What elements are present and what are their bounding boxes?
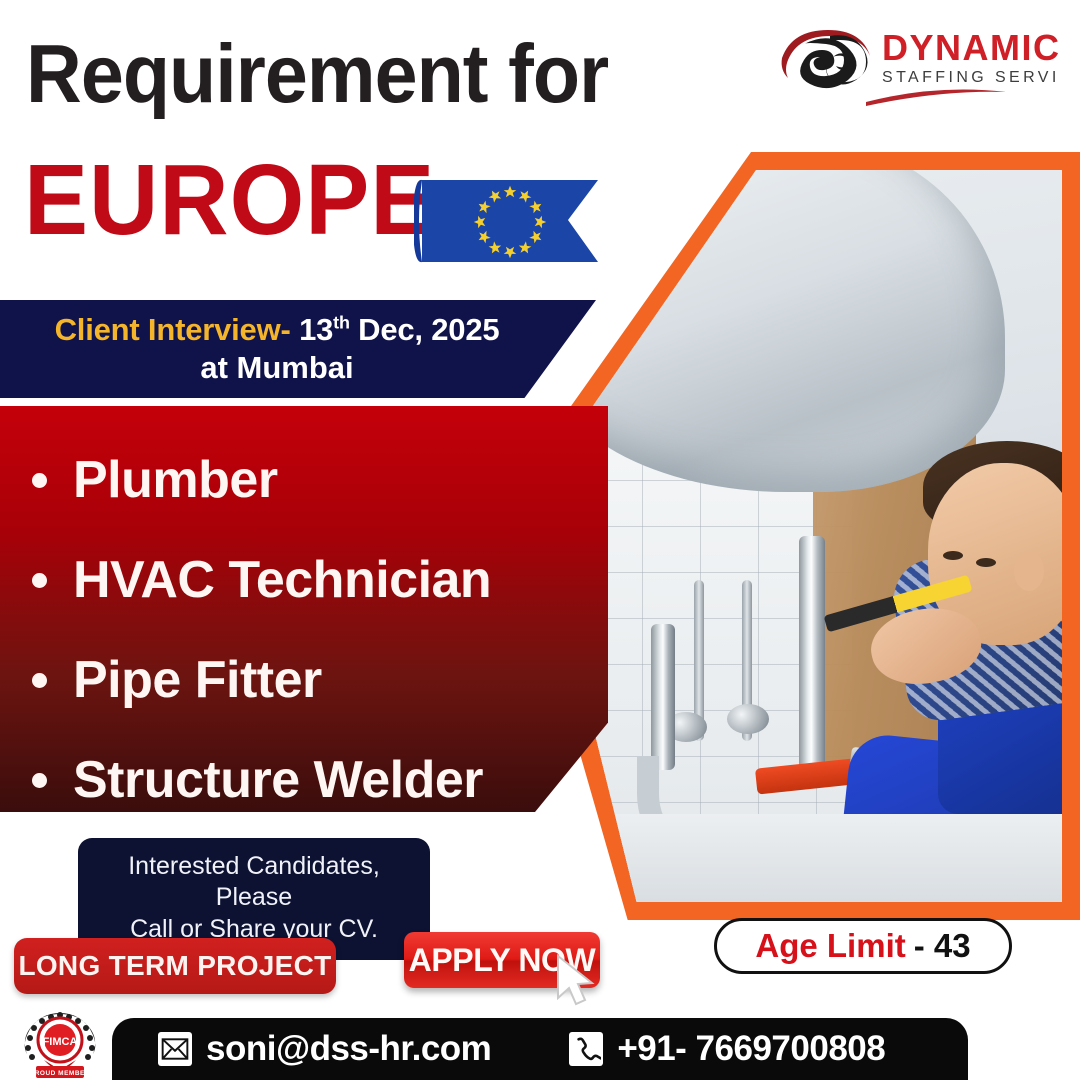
job-title: HVAC Technician <box>73 550 491 610</box>
recruitment-poster: Requirement for EUROPE <box>0 0 1080 1080</box>
bullet-icon <box>32 773 47 788</box>
photo-p-trap <box>651 624 675 770</box>
contact-phone-item[interactable]: +91- 7669700808 <box>569 1029 885 1069</box>
plumber-photo <box>584 170 1062 902</box>
photo-sink-basin <box>584 170 1005 492</box>
dynamic-staffing-services-logo: DYNAMIC STAFFING SERVICES <box>770 18 1058 110</box>
bullet-icon <box>32 473 47 488</box>
banner-date-day: 13 <box>299 312 333 347</box>
photo-worker-eye-right <box>976 558 996 567</box>
photo-worker-ear <box>1014 551 1044 591</box>
note-line-1: Interested Candidates, Please <box>88 851 420 914</box>
age-limit-value: - 43 <box>914 927 971 965</box>
job-title: Plumber <box>73 450 278 510</box>
photo-inner-mask <box>584 170 1062 902</box>
phone-icon <box>569 1032 603 1066</box>
banner-headline: Client Interview- 13th Dec, 2025 <box>55 312 542 348</box>
bullet-icon <box>32 573 47 588</box>
photo-worker-eye-left <box>943 551 963 560</box>
photo-frame <box>566 152 1080 920</box>
job-list-item: Structure Welder <box>22 730 608 830</box>
fimca-badge-text: FIMCA <box>43 1036 78 1048</box>
job-list-item: HVAC Technician <box>22 530 608 630</box>
banner-separator: - <box>281 312 291 347</box>
banner-date-rest: Dec, 2025 <box>358 312 499 347</box>
headline-region: EUROPE <box>24 150 435 250</box>
fimca-ribbon-text: PROUD MEMBER <box>30 1070 90 1077</box>
logo-sub-text: STAFFING SERVICES <box>882 69 1058 86</box>
job-roles-panel: Plumber HVAC Technician Pipe Fitter Stru… <box>0 406 608 812</box>
age-limit-label: Age Limit <box>755 927 905 965</box>
email-address: soni@dss-hr.com <box>206 1029 491 1069</box>
job-title: Structure Welder <box>73 750 483 810</box>
contact-email-item[interactable]: soni@dss-hr.com <box>158 1029 491 1069</box>
mouse-cursor-icon <box>552 954 598 1010</box>
job-list-item: Pipe Fitter <box>22 630 608 730</box>
banner-label: Client Interview <box>55 312 281 347</box>
photo-drain-pipe <box>799 536 825 785</box>
apply-now-group[interactable]: APPLY NOW <box>404 932 622 998</box>
age-limit-badge: Age Limit - 43 <box>714 918 1012 974</box>
client-interview-banner: Client Interview- 13th Dec, 2025 at Mumb… <box>0 300 596 398</box>
contact-bar: soni@dss-hr.com +91- 7669700808 <box>112 1018 968 1080</box>
fimca-proud-member-badge-icon: FIMCA PROUD MEMBER <box>14 1008 106 1080</box>
phone-number: +91- 7669700808 <box>617 1029 885 1069</box>
headline-primary: Requirement for <box>26 32 608 115</box>
european-union-flag-icon <box>414 166 606 276</box>
banner-date-ordinal: th <box>333 313 350 333</box>
bullet-icon <box>32 673 47 688</box>
banner-location: at Mumbai <box>200 350 395 386</box>
photo-floor <box>584 814 1062 902</box>
job-list-item: Plumber <box>22 430 608 530</box>
job-title: Pipe Fitter <box>73 650 322 710</box>
logo-main-text: DYNAMIC <box>882 27 1058 68</box>
long-term-project-badge: LONG TERM PROJECT <box>14 938 336 994</box>
email-icon <box>158 1032 192 1066</box>
